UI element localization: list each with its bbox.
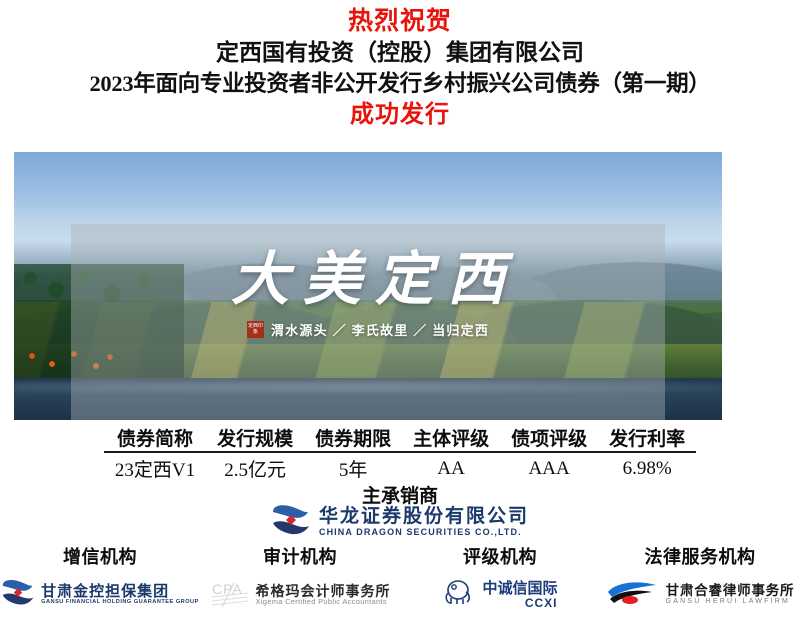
issuer-name: 定西国有投资（控股）集团有限公司 <box>0 37 800 68</box>
swoosh-icon <box>606 578 660 613</box>
bond-table-wrapper: 债券简称 发行规模 债券期限 主体评级 债项评级 发行利率 23定西V1 2.5… <box>0 424 800 482</box>
partner-logo: 甘肃金控担保集团 GANSU FINANCIAL HOLDING GUARANT… <box>1 575 199 615</box>
col-header-issuer-rating: 主体评级 <box>402 424 500 452</box>
partner-name-cn: 甘肃合睿律师事务所 <box>666 584 795 598</box>
seal-stamp-icon: 定西印象 <box>247 321 264 338</box>
partner-credit-enhancement: 增信机构 甘肃金控担保集团 GANSU FINANCIAL HOLDING GU… <box>0 543 200 620</box>
banner-subtitle: 渭水源头 ／ 李氏故里 ／ 当归定西 <box>271 320 489 339</box>
cell-coupon-rate: 6.98% <box>598 452 696 482</box>
calligraphy-title: 大美定西 <box>14 232 722 316</box>
banner-subtitle-row: 定西印象 渭水源头 ／ 李氏故里 ／ 当归定西 <box>14 320 722 339</box>
underwriter-name-group: 华龙证券股份有限公司 CHINA DRAGON SECURITIES CO.,L… <box>319 507 529 538</box>
success-issuance-text: 成功发行 <box>0 100 800 130</box>
partner-name-group: 希格玛会计师事务所 Xigema Certified Public Accoun… <box>256 584 391 607</box>
partner-name-en: GANSU HERUI LAWFIRM <box>666 598 795 605</box>
col-header-issue-size: 发行规模 <box>206 424 304 452</box>
partner-title: 法律服务机构 <box>645 543 756 569</box>
partner-name-en: GANSU FINANCIAL HOLDING GUARANTEE GROUP <box>41 600 199 606</box>
congratulations-heading: 热烈祝贺 <box>0 7 800 37</box>
partner-name-en: CCXI <box>482 597 557 610</box>
partner-name-cn: 希格玛会计师事务所 <box>256 584 391 599</box>
partner-logo: CPA 希格玛会计师事务所 Xigema Certified Public Ac… <box>210 575 391 615</box>
partner-institutions-row: 增信机构 甘肃金控担保集团 GANSU FINANCIAL HOLDING GU… <box>0 543 800 620</box>
col-header-bond-abbr: 债券简称 <box>104 424 206 452</box>
partner-logo: 中诚信国际 CCXI <box>442 575 557 615</box>
elephant-icon <box>442 578 476 613</box>
partner-rating-agency: 评级机构 中诚信国际 CCXI <box>400 543 600 620</box>
col-header-bond-rating: 债项评级 <box>500 424 598 452</box>
scenery-banner-image: 大美定西 定西印象 渭水源头 ／ 李氏故里 ／ 当归定西 <box>14 152 722 420</box>
partner-name-en: Xigema Certified Public Accountants <box>256 598 391 606</box>
partner-name-group: 甘肃金控担保集团 GANSU FINANCIAL HOLDING GUARANT… <box>41 584 199 606</box>
cell-issue-size: 2.5亿元 <box>206 452 304 482</box>
bond-name: 2023年面向专业投资者非公开发行乡村振兴公司债券（第一期） <box>0 68 800 99</box>
cell-bond-abbr: 23定西V1 <box>104 452 206 482</box>
cell-bond-term: 5年 <box>304 452 402 482</box>
partner-title: 评级机构 <box>463 543 537 569</box>
cell-issuer-rating: AA <box>402 452 500 482</box>
partner-title: 审计机构 <box>263 543 337 569</box>
cell-bond-rating: AAA <box>500 452 598 482</box>
table-header-row: 债券简称 发行规模 债券期限 主体评级 债项评级 发行利率 <box>104 424 696 452</box>
partner-auditor: 审计机构 CPA 希格玛会计师事务所 Xigema Certified Publ… <box>200 543 400 620</box>
partner-name-cn: 甘肃金控担保集团 <box>41 584 199 600</box>
bond-details-table: 债券简称 发行规模 债券期限 主体评级 债项评级 发行利率 23定西V1 2.5… <box>104 424 696 482</box>
partner-name-group: 甘肃合睿律师事务所 GANSU HERUI LAWFIRM <box>666 584 795 606</box>
partner-logo: 甘肃合睿律师事务所 GANSU HERUI LAWFIRM <box>606 575 795 615</box>
table-row: 23定西V1 2.5亿元 5年 AA AAA 6.98% <box>104 452 696 482</box>
partner-legal-services: 法律服务机构 甘肃合睿律师事务所 GANSU HERUI LAWFIRM <box>600 543 800 620</box>
underwriter-logo-block: 华龙证券股份有限公司 CHINA DRAGON SECURITIES CO.,L… <box>0 503 800 542</box>
wave-diamond-icon <box>1 578 35 612</box>
partner-name-cn: 中诚信国际 <box>482 581 557 597</box>
col-header-bond-term: 债券期限 <box>304 424 402 452</box>
partner-title: 增信机构 <box>63 543 137 569</box>
col-header-coupon-rate: 发行利率 <box>598 424 696 452</box>
wave-diamond-icon <box>271 503 311 542</box>
partner-name-group: 中诚信国际 CCXI <box>482 581 557 609</box>
headline-block: 热烈祝贺 定西国有投资（控股）集团有限公司 2023年面向专业投资者非公开发行乡… <box>0 0 800 130</box>
underwriter-name-cn: 华龙证券股份有限公司 <box>319 507 529 527</box>
cpa-icon: CPA <box>210 577 250 614</box>
underwriter-name-en: CHINA DRAGON SECURITIES CO.,LTD. <box>319 527 529 538</box>
